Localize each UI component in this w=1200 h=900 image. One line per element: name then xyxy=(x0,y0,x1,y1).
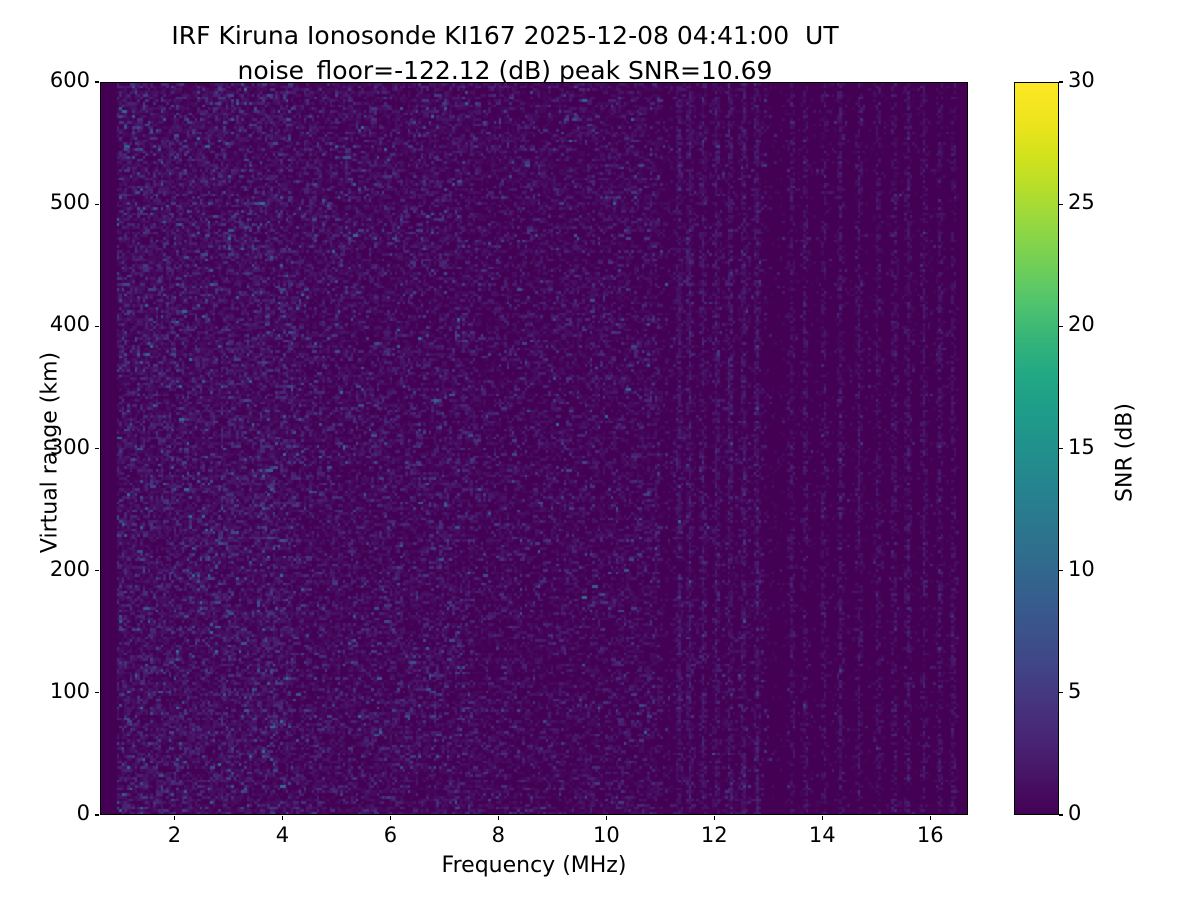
colorbar-tick-label: 10 xyxy=(1068,557,1095,581)
snr-colorbar[interactable] xyxy=(1014,82,1059,815)
x-tick-mark xyxy=(390,816,391,820)
x-tick-label: 10 xyxy=(576,823,636,847)
x-tick-label: 14 xyxy=(792,823,852,847)
y-tick-label: 400 xyxy=(20,312,90,336)
colorbar-tick-label: 5 xyxy=(1068,679,1081,703)
title-line-1: IRF Kiruna Ionosonde KI167 2025-12-08 04… xyxy=(0,18,1010,53)
x-tick-label: 12 xyxy=(684,823,744,847)
y-tick-mark xyxy=(95,81,99,82)
y-tick-label: 500 xyxy=(20,190,90,214)
x-tick-mark xyxy=(174,816,175,820)
x-tick-mark xyxy=(822,816,823,820)
colorbar-tick-mark xyxy=(1059,81,1063,82)
x-tick-mark xyxy=(282,816,283,820)
x-tick-mark xyxy=(498,816,499,820)
y-tick-label: 200 xyxy=(20,557,90,581)
y-tick-mark xyxy=(95,570,99,571)
y-tick-label: 100 xyxy=(20,679,90,703)
colorbar-label: SNR (dB) xyxy=(1113,283,1138,623)
colorbar-tick-mark xyxy=(1059,448,1063,449)
y-tick-mark xyxy=(95,814,99,815)
ionogram-heatmap[interactable] xyxy=(101,83,967,814)
colorbar-tick-mark xyxy=(1059,814,1063,815)
colorbar-tick-mark xyxy=(1059,570,1063,571)
x-tick-mark xyxy=(930,816,931,820)
x-tick-mark xyxy=(606,816,607,820)
x-tick-label: 8 xyxy=(468,823,528,847)
y-tick-label: 600 xyxy=(20,68,90,92)
colorbar-tick-label: 30 xyxy=(1068,68,1095,92)
page-title: IRF Kiruna Ionosonde KI167 2025-12-08 04… xyxy=(0,18,1010,88)
y-tick-label: 300 xyxy=(20,435,90,459)
y-tick-mark xyxy=(95,448,99,449)
colorbar-tick-mark xyxy=(1059,692,1063,693)
x-axis-label: Frequency (MHz) xyxy=(100,853,968,878)
y-tick-mark xyxy=(95,692,99,693)
colorbar-tick-mark xyxy=(1059,326,1063,327)
colorbar-tick-label: 25 xyxy=(1068,190,1095,214)
colorbar-tick-label: 0 xyxy=(1068,801,1081,825)
x-tick-mark xyxy=(714,816,715,820)
y-tick-mark xyxy=(95,326,99,327)
colorbar-tick-label: 15 xyxy=(1068,435,1095,459)
x-tick-label: 16 xyxy=(900,823,960,847)
x-tick-label: 6 xyxy=(360,823,420,847)
colorbar-tick-label: 20 xyxy=(1068,312,1095,336)
y-tick-label: 0 xyxy=(20,801,90,825)
x-tick-label: 2 xyxy=(144,823,204,847)
y-tick-mark xyxy=(95,204,99,205)
colorbar-tick-mark xyxy=(1059,204,1063,205)
heatmap-plot-area[interactable] xyxy=(100,82,968,815)
ionogram-figure: IRF Kiruna Ionosonde KI167 2025-12-08 04… xyxy=(0,0,1200,900)
x-tick-label: 4 xyxy=(252,823,312,847)
